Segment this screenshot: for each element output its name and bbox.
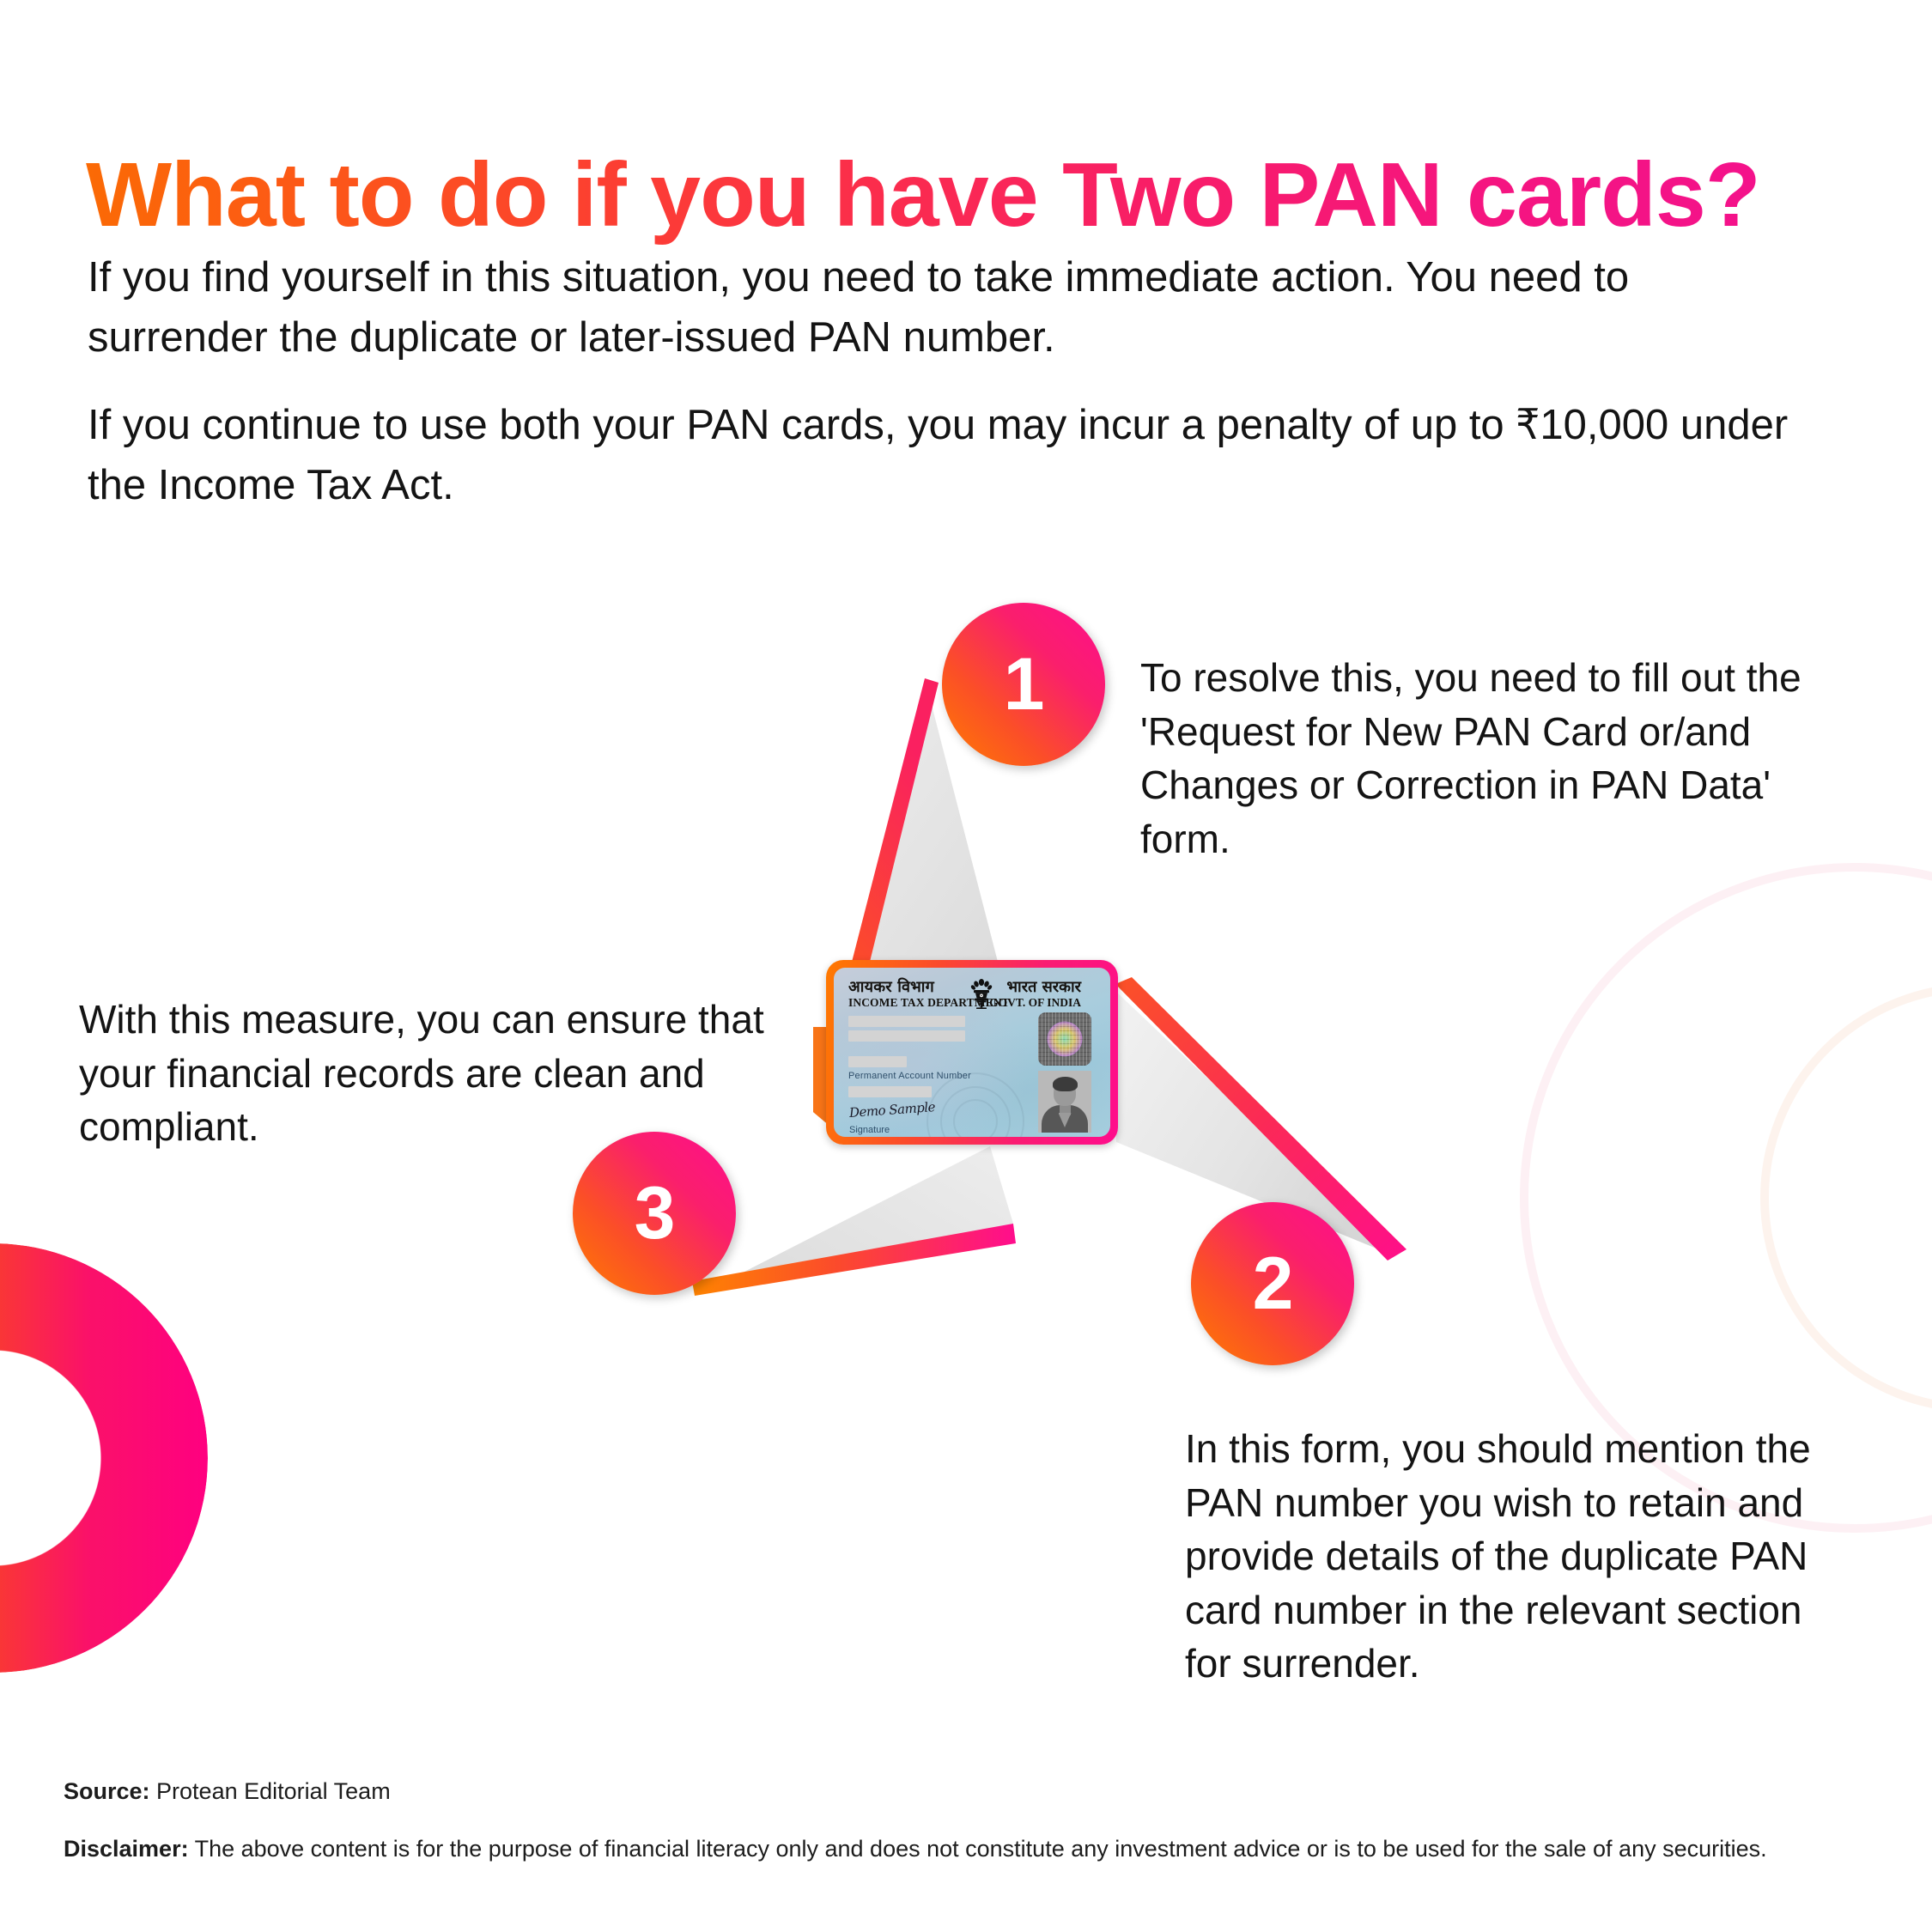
- source-label: Source:: [64, 1778, 150, 1804]
- intro-paragraph-2: If you continue to use both your PAN car…: [88, 396, 1805, 515]
- pan-card-image: आयकर विभाग INCOME TAX DEPARTMENT भारत सर…: [826, 960, 1118, 1145]
- pan-government-english: GOVT. OF INDIA: [989, 996, 1081, 1010]
- step-description-3: With this measure, you can ensure that y…: [79, 993, 783, 1154]
- pan-card-watermark-ring-3: [953, 1099, 998, 1137]
- page-title: What to do if you have Two PAN cards?: [86, 145, 1760, 246]
- infographic-poster: What to do if you have Two PAN cards? If…: [0, 0, 1932, 1932]
- decorative-donut-shape: [0, 1243, 208, 1673]
- avatar-hair: [1053, 1077, 1078, 1091]
- disclaimer-label: Disclaimer:: [64, 1836, 189, 1862]
- hologram-icon: [1038, 1012, 1091, 1066]
- pan-photo-avatar: [1038, 1071, 1091, 1133]
- step-description-2: In this form, you should mention the PAN…: [1185, 1422, 1838, 1691]
- footer: Source: Protean Editorial Team Disclaime…: [64, 1776, 1875, 1866]
- step-number-2: 2: [1253, 1247, 1293, 1321]
- step-description-1: To resolve this, you need to fill out th…: [1140, 651, 1862, 866]
- disclaimer-line: Disclaimer: The above content is for the…: [64, 1833, 1875, 1865]
- disclaimer-value: The above content is for the purpose of …: [189, 1836, 1767, 1862]
- step-number-3: 3: [635, 1176, 675, 1250]
- pan-government-hindi: भारत सरकार: [1006, 976, 1081, 997]
- source-line: Source: Protean Editorial Team: [64, 1776, 1875, 1807]
- pan-department-hindi: आयकर विभाग: [848, 976, 934, 997]
- step-badge-2: 2: [1191, 1202, 1354, 1365]
- pan-card-watermark-ring-2: [940, 1086, 1011, 1137]
- pan-card-face: आयकर विभाग INCOME TAX DEPARTMENT भारत सर…: [834, 968, 1110, 1137]
- pan-number-field-redacted: [848, 1086, 932, 1097]
- pan-card-watermark-ring-1: [927, 1072, 1024, 1137]
- pan-father-field-redacted: [848, 1030, 965, 1042]
- step-badge-3: 3: [573, 1132, 736, 1295]
- source-value: Protean Editorial Team: [150, 1778, 391, 1804]
- step-number-1: 1: [1004, 647, 1044, 721]
- step-badge-1: 1: [942, 603, 1105, 766]
- pan-dob-field-redacted: [848, 1056, 907, 1067]
- intro-paragraph-1: If you find yourself in this situation, …: [88, 248, 1805, 368]
- ribbon-to-step-3: [692, 1146, 1016, 1296]
- pan-signature-text: Demo Sample: [848, 1099, 935, 1121]
- pan-signature-label: Signature: [849, 1125, 890, 1135]
- pan-number-label: Permanent Account Number: [848, 1071, 971, 1081]
- ashoka-emblem-icon: [970, 975, 993, 1012]
- pan-name-field-redacted: [848, 1016, 965, 1027]
- decorative-ring-inner: [1760, 983, 1932, 1413]
